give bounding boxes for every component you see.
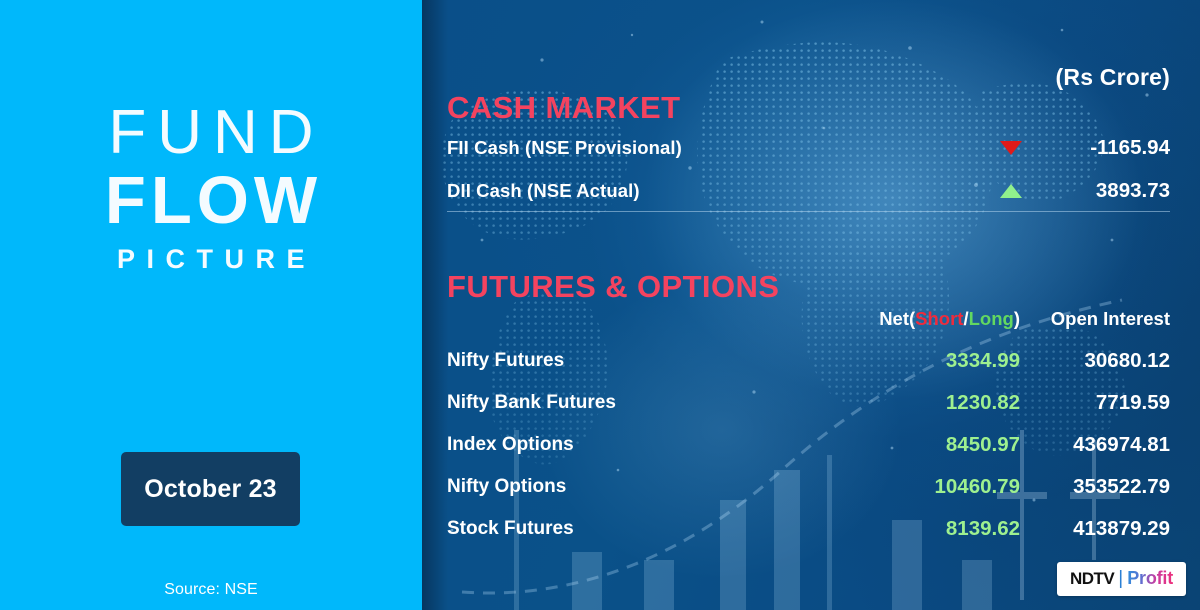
table-row: Index Options 8450.97 436974.81: [447, 431, 1170, 459]
fund-flow-picture-logo: FUND FLOW PICTURE: [0, 103, 422, 273]
fno-row-open-interest: 7719.59: [1020, 391, 1170, 415]
left-branding-panel: FUND FLOW PICTURE October 23 Source: NSE: [0, 0, 422, 610]
table-column-headers: Net(Short/Long) Open Interest: [447, 306, 1170, 332]
cash-row-label: DII Cash (NSE Actual): [447, 180, 968, 202]
direction-cell: [968, 141, 1054, 155]
table-row: Nifty Futures 3334.99 30680.12: [447, 347, 1170, 375]
date-badge-label: October 23: [144, 475, 277, 504]
logo-line-picture: PICTURE: [0, 246, 422, 273]
logo-line-fund: FUND: [0, 103, 422, 164]
direction-cell: [968, 184, 1054, 198]
fund-flow-picture-graphic: FUND FLOW PICTURE October 23 Source: NSE: [0, 0, 1200, 610]
fno-row-net: 8139.62: [790, 517, 1020, 541]
source-note: Source: NSE: [0, 581, 422, 599]
table-row: FII Cash (NSE Provisional) -1165.94: [447, 133, 1170, 163]
column-header-net: Net(Short/Long): [790, 308, 1020, 330]
section-divider: [447, 211, 1170, 212]
fno-row-open-interest: 30680.12: [1020, 349, 1170, 373]
cash-row-label: FII Cash (NSE Provisional): [447, 137, 968, 159]
triangle-down-icon: [1000, 141, 1022, 155]
ndtv-profit-logo: NDTV | Profit: [1057, 562, 1186, 596]
cash-row-value: -1165.94: [1054, 136, 1170, 160]
fno-row-label: Nifty Bank Futures: [447, 392, 790, 414]
data-content: (Rs Crore) CASH MARKET FII Cash (NSE Pro…: [422, 0, 1200, 610]
fno-row-open-interest: 353522.79: [1020, 475, 1170, 499]
table-row: DII Cash (NSE Actual) 3893.73: [447, 176, 1170, 206]
brand-ndtv-text: NDTV: [1070, 569, 1114, 589]
unit-label: (Rs Crore): [1056, 64, 1170, 91]
brand-profit-text: Profit: [1127, 568, 1173, 589]
right-data-panel: (Rs Crore) CASH MARKET FII Cash (NSE Pro…: [422, 0, 1200, 610]
fno-row-open-interest: 413879.29: [1020, 517, 1170, 541]
futures-options-heading: FUTURES & OPTIONS: [447, 269, 779, 305]
fno-row-net: 3334.99: [790, 349, 1020, 373]
fno-row-label: Nifty Options: [447, 476, 790, 498]
date-badge: October 23: [121, 452, 300, 526]
table-row: Nifty Bank Futures 1230.82 7719.59: [447, 389, 1170, 417]
fno-row-label: Index Options: [447, 434, 790, 456]
logo-line-flow: FLOW: [0, 167, 422, 234]
brand-separator-icon: |: [1118, 569, 1123, 588]
fno-row-net: 8450.97: [790, 433, 1020, 457]
fno-row-net: 1230.82: [790, 391, 1020, 415]
table-row: Stock Futures 8139.62 413879.29: [447, 515, 1170, 543]
cash-row-value: 3893.73: [1054, 179, 1170, 203]
fno-row-label: Nifty Futures: [447, 350, 790, 372]
net-short-label: Short: [915, 308, 963, 329]
table-row: Nifty Options 10460.79 353522.79: [447, 473, 1170, 501]
cash-market-heading: CASH MARKET: [447, 90, 680, 126]
fno-row-open-interest: 436974.81: [1020, 433, 1170, 457]
net-long-label: Long: [969, 308, 1014, 329]
column-header-open-interest: Open Interest: [1020, 308, 1170, 330]
triangle-up-icon: [1000, 184, 1022, 198]
fno-row-net: 10460.79: [790, 475, 1020, 499]
fno-row-label: Stock Futures: [447, 518, 790, 540]
net-prefix: Net(: [879, 308, 915, 329]
